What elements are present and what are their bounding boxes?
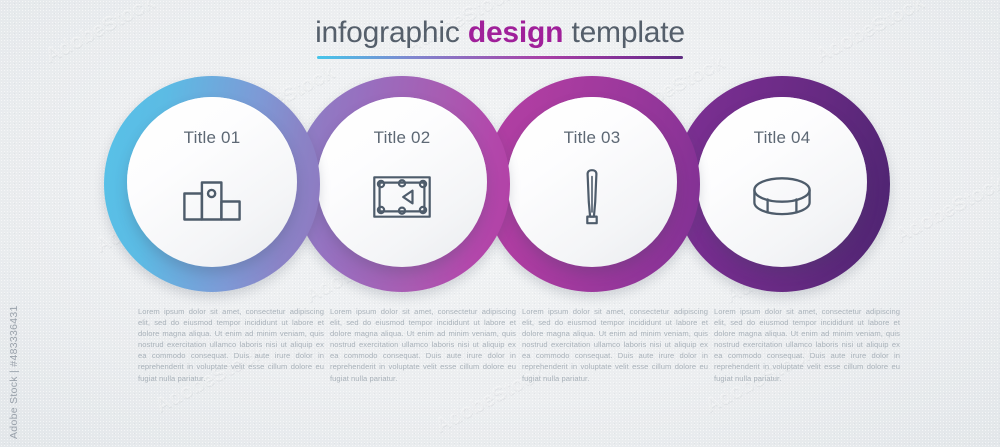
step-title-4: Title 04 bbox=[754, 128, 811, 148]
step-item-1[interactable]: Title 01 bbox=[104, 76, 320, 292]
podium-icon bbox=[181, 168, 243, 226]
title-word-design: design bbox=[468, 16, 563, 49]
infographic-canvas: AdobeStock AdobeStock AdobeStock AdobeSt… bbox=[0, 0, 1000, 447]
step-card-2[interactable]: Title 02 bbox=[317, 97, 487, 267]
title-word-template: template bbox=[571, 16, 684, 49]
step-ring-row: Title 01 Title 02 bbox=[0, 76, 1000, 292]
step-card-1[interactable]: Title 01 bbox=[127, 97, 297, 267]
title-underline-rule bbox=[317, 56, 683, 59]
billiard-table-icon bbox=[371, 168, 433, 226]
step-item-2[interactable]: Title 02 bbox=[294, 76, 510, 292]
step-card-4[interactable]: Title 04 bbox=[697, 97, 867, 267]
step-description-2: Lorem ipsum dolor sit amet, consectetur … bbox=[330, 306, 516, 384]
header: infographic design template bbox=[0, 16, 1000, 59]
step-title-3: Title 03 bbox=[564, 128, 621, 148]
step-description-3: Lorem ipsum dolor sit amet, consectetur … bbox=[522, 306, 708, 384]
title-word-infographic: infographic bbox=[315, 16, 460, 49]
page-title: infographic design template bbox=[0, 16, 1000, 50]
step-item-3[interactable]: Title 03 bbox=[484, 76, 700, 292]
step-card-3[interactable]: Title 03 bbox=[507, 97, 677, 267]
baseball-bat-icon bbox=[561, 168, 623, 226]
hockey-puck-icon bbox=[751, 168, 813, 226]
step-title-1: Title 01 bbox=[184, 128, 241, 148]
step-description-4: Lorem ipsum dolor sit amet, consectetur … bbox=[714, 306, 900, 384]
stock-watermark-label: Adobe Stock | #483336431 bbox=[8, 305, 20, 439]
description-row: Lorem ipsum dolor sit amet, consectetur … bbox=[0, 306, 1000, 416]
step-title-2: Title 02 bbox=[374, 128, 431, 148]
step-description-1: Lorem ipsum dolor sit amet, consectetur … bbox=[138, 306, 324, 384]
step-item-4[interactable]: Title 04 bbox=[674, 76, 890, 292]
